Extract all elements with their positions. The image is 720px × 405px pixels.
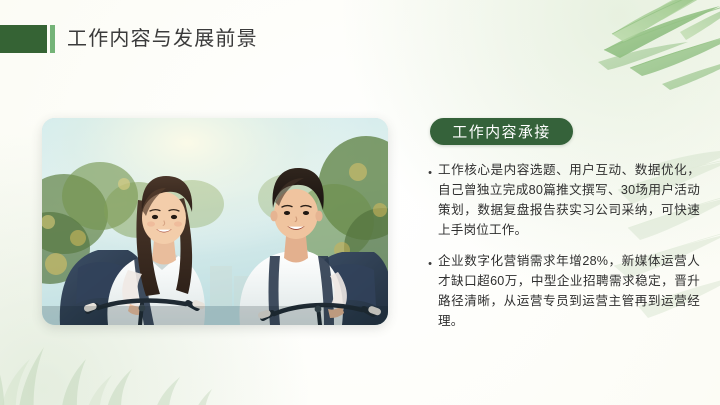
title-accent-dark-block	[0, 25, 47, 53]
panel-heading-label: 工作内容承接	[452, 121, 550, 142]
panel-heading-badge: 工作内容承接	[430, 118, 573, 145]
title-accent-light-bar	[50, 25, 55, 53]
slide-canvas: 工作内容与发展前景	[0, 0, 720, 405]
bullet-text: 企业数字化营销需求年增28%，新媒体运营人才缺口超60万，中型企业招聘需求稳定，…	[438, 251, 700, 331]
bullet-dot-icon: •	[422, 251, 438, 270]
bullet-list: • 工作核心是内容选题、用户互动、数据优化，自己曾独立完成80篇推文撰写、30场…	[422, 160, 700, 342]
list-item: • 企业数字化营销需求年增28%，新媒体运营人才缺口超60万，中型企业招聘需求稳…	[422, 251, 700, 331]
page-title: 工作内容与发展前景	[67, 29, 258, 49]
slide-title-bar: 工作内容与发展前景	[0, 25, 258, 53]
bamboo-leaves-decoration	[512, 0, 720, 122]
bullet-dot-icon: •	[422, 160, 438, 179]
students-with-bicycles-photo	[42, 118, 388, 325]
list-item: • 工作核心是内容选题、用户互动、数据优化，自己曾独立完成80篇推文撰写、30场…	[422, 160, 700, 240]
bullet-text: 工作核心是内容选题、用户互动、数据优化，自己曾独立完成80篇推文撰写、30场用户…	[438, 160, 700, 240]
